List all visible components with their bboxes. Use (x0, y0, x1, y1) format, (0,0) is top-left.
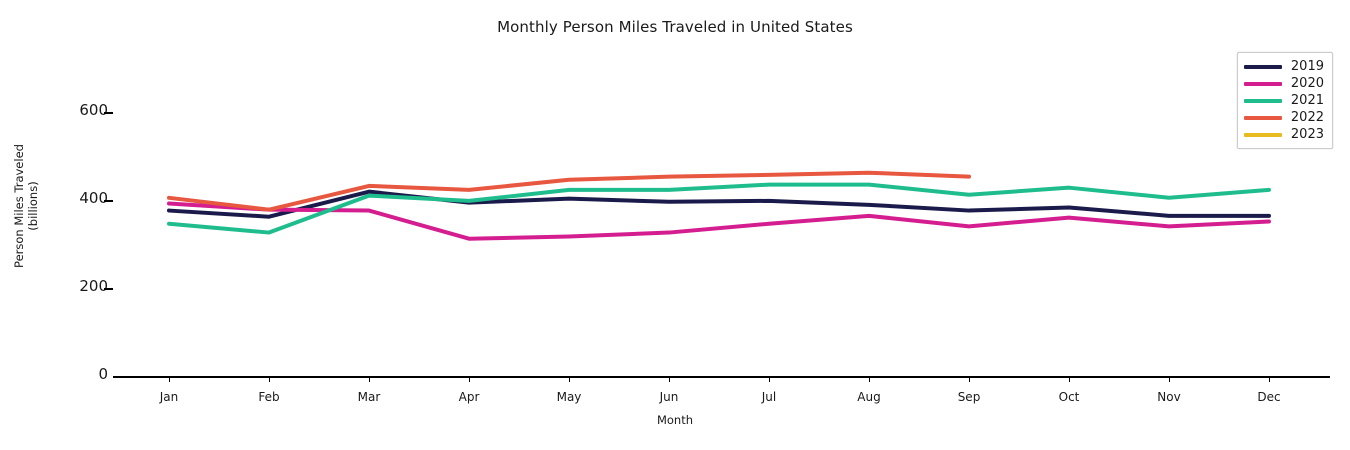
legend-item-2022[interactable]: 2022 (1244, 109, 1324, 126)
x-tick-label: Oct (1059, 390, 1080, 404)
legend-label: 2020 (1291, 77, 1324, 90)
legend-item-2021[interactable]: 2021 (1244, 92, 1324, 109)
legend-item-2020[interactable]: 2020 (1244, 75, 1324, 92)
legend-swatch-icon (1244, 133, 1282, 137)
y-axis-label-line2: (billions) (26, 91, 40, 321)
legend-label: 2019 (1291, 60, 1324, 73)
x-tick-label: Feb (258, 390, 279, 404)
x-tick-label: Nov (1157, 390, 1180, 404)
chart-legend[interactable]: 20192020202120222023 (1237, 52, 1333, 149)
legend-swatch-icon (1244, 99, 1282, 103)
y-axis-label: Person Miles Traveled (billions) (12, 91, 40, 321)
x-tick-label: Aug (857, 390, 880, 404)
x-tick-label: Apr (459, 390, 480, 404)
legend-label: 2023 (1291, 128, 1324, 141)
legend-label: 2022 (1291, 111, 1324, 124)
legend-swatch-icon (1244, 116, 1282, 120)
x-tick-label: Jul (762, 390, 776, 404)
chart-figure: Monthly Person Miles Traveled in United … (0, 0, 1350, 450)
legend-item-2019[interactable]: 2019 (1244, 58, 1324, 75)
x-tick-label: May (557, 390, 582, 404)
legend-item-2023[interactable]: 2023 (1244, 126, 1324, 143)
series-lines (113, 54, 1330, 377)
x-tick-label: Sep (958, 390, 981, 404)
legend-swatch-icon (1244, 82, 1282, 86)
plot-area (113, 54, 1330, 377)
x-tick-label: Dec (1257, 390, 1280, 404)
x-tick-label: Jan (160, 390, 179, 404)
x-tick-label: Jun (660, 390, 679, 404)
x-tick-label: Mar (358, 390, 381, 404)
legend-label: 2021 (1291, 94, 1324, 107)
y-axis-label-line1: Person Miles Traveled (12, 91, 26, 321)
legend-swatch-icon (1244, 65, 1282, 69)
x-axis-label: Month (0, 413, 1350, 427)
